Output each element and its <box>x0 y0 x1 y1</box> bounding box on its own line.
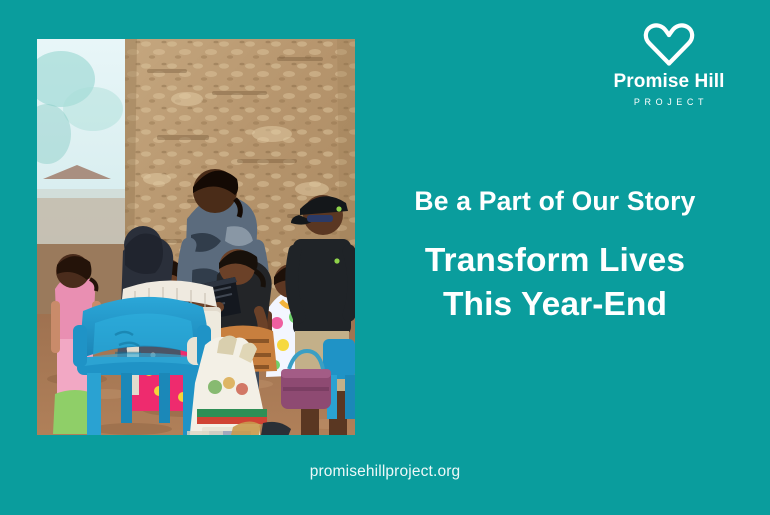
photo-illustration <box>37 39 355 435</box>
logo-name: Promise Hill <box>613 72 724 91</box>
brand-logo[interactable]: Promise Hill PROJECT <box>594 22 744 107</box>
headline: Transform Lives This Year-End <box>390 239 720 326</box>
headline-line-2: This Year-End <box>390 283 720 327</box>
headline-line-1: Transform Lives <box>425 242 685 279</box>
eyebrow-text: Be a Part of Our Story <box>390 186 720 217</box>
promo-graphic-canvas: Promise Hill PROJECT Be a Part of Our St… <box>0 0 770 515</box>
outreach-photo <box>37 39 355 435</box>
message-block: Be a Part of Our Story Transform Lives T… <box>390 186 720 326</box>
website-url[interactable]: promisehillproject.org <box>0 463 770 481</box>
heart-outline-icon <box>641 22 697 66</box>
logo-subtitle: PROJECT <box>634 98 708 107</box>
